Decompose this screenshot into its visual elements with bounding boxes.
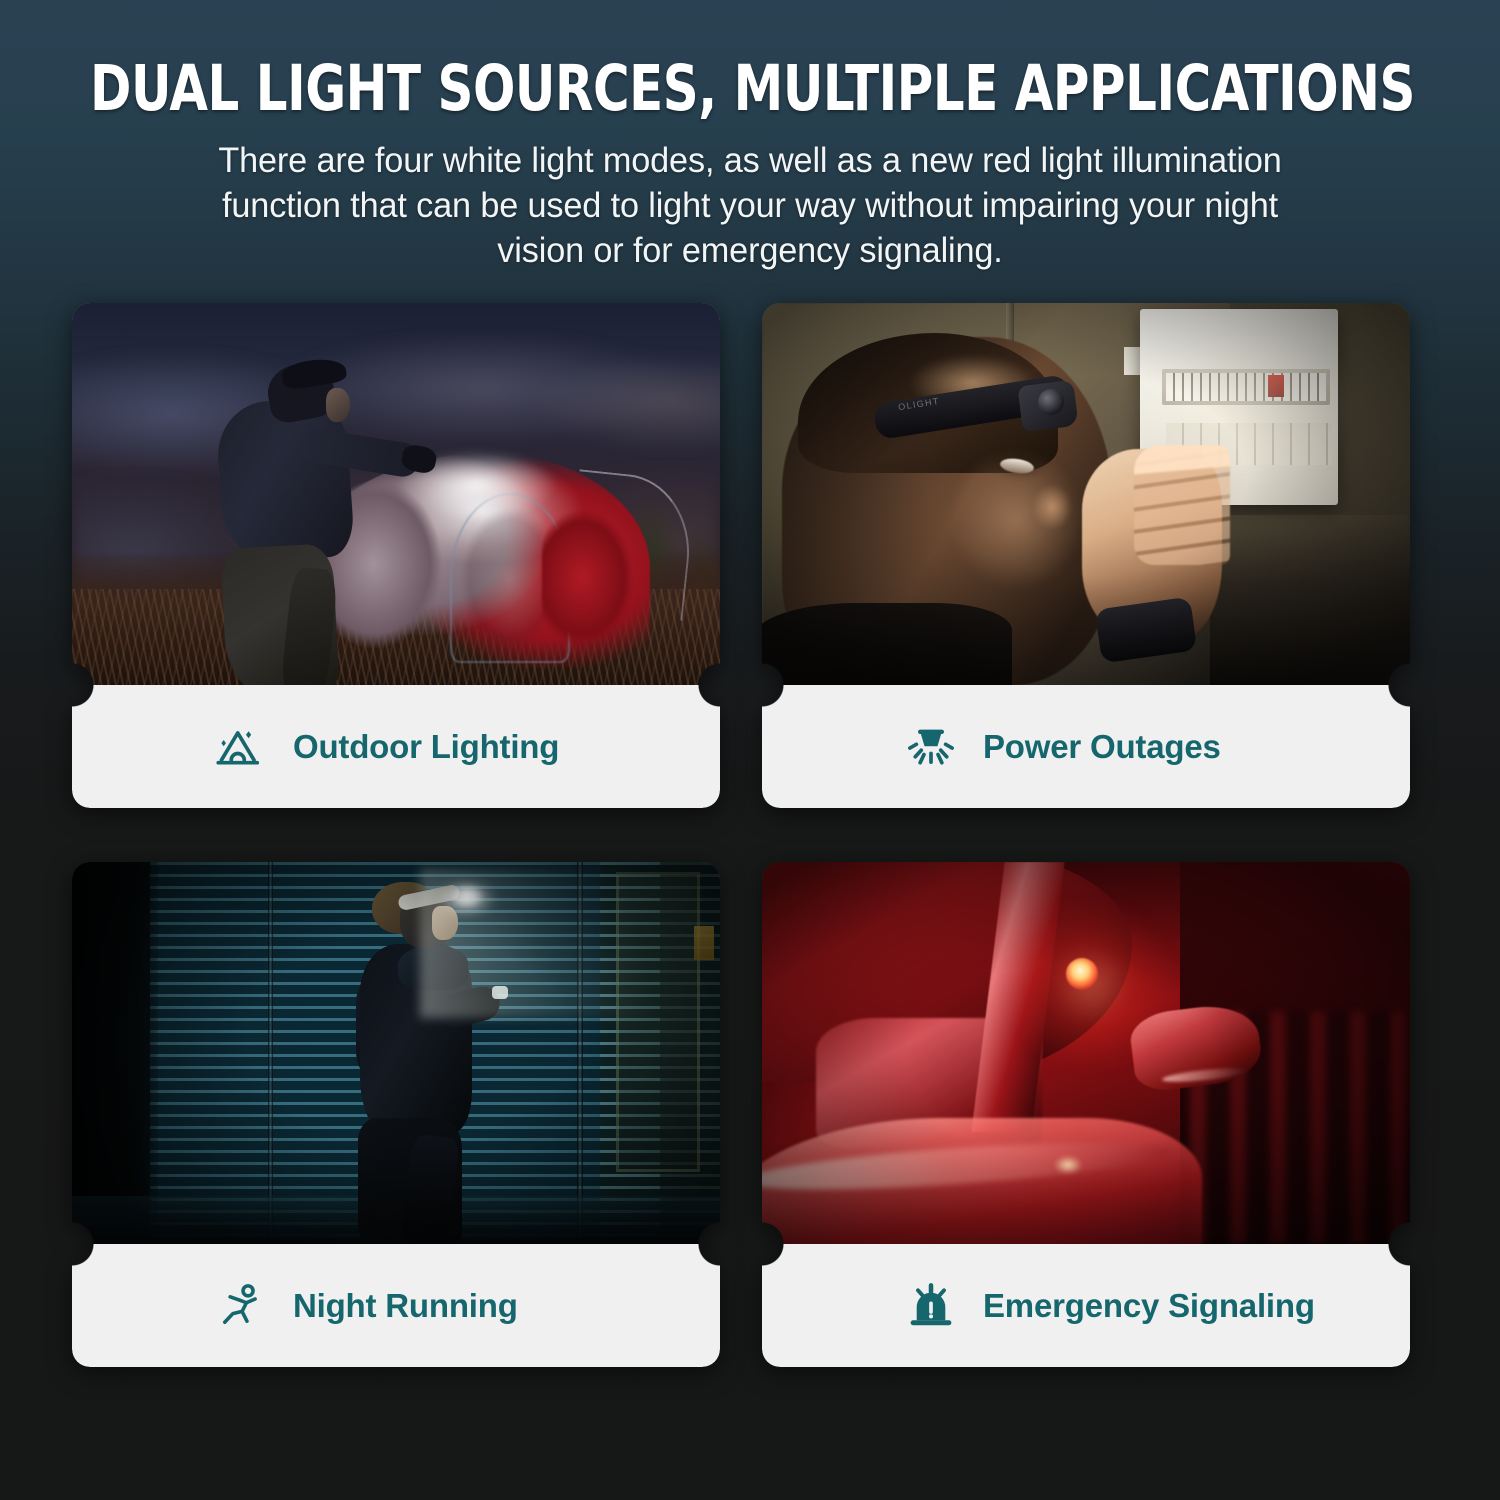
siren-icon <box>905 1280 957 1332</box>
card-photo-night-running <box>72 862 720 1244</box>
application-card-power-outages[interactable]: OLIGHT <box>762 303 1410 808</box>
card-label-text: Emergency Signaling <box>983 1287 1315 1325</box>
card-label-strip: Night Running <box>72 1244 720 1367</box>
breaker-panel-scene: OLIGHT <box>762 303 1410 685</box>
tent-icon <box>215 721 267 773</box>
ticket-surface: Outdoor Lighting <box>72 303 720 808</box>
card-label-text: Power Outages <box>983 728 1221 766</box>
page-subtitle: There are four white light modes, as wel… <box>190 138 1309 273</box>
application-card-outdoor-lighting[interactable]: Outdoor Lighting <box>72 303 720 808</box>
application-card-emergency-signaling[interactable]: Emergency Signaling <box>762 862 1410 1367</box>
camping-night-scene <box>72 303 720 685</box>
ticket-surface: Night Running <box>72 862 720 1367</box>
red-emergency-light-scene <box>762 862 1410 1244</box>
ticket-surface: OLIGHT <box>762 303 1410 808</box>
night-runner-scene <box>72 862 720 1244</box>
card-photo-emergency-signaling <box>762 862 1410 1244</box>
application-card-grid: Outdoor Lighting <box>72 303 1410 1365</box>
ceiling-lamp-icon <box>905 721 957 773</box>
running-person-icon <box>215 1280 267 1332</box>
application-card-night-running[interactable]: Night Running <box>72 862 720 1367</box>
product-feature-panel: DUAL LIGHT SOURCES, MULTIPLE APPLICATION… <box>0 0 1500 1500</box>
card-label-text: Outdoor Lighting <box>293 728 559 766</box>
card-label-strip: Emergency Signaling <box>762 1244 1410 1367</box>
card-label-strip: Power Outages <box>762 685 1410 808</box>
ticket-surface: Emergency Signaling <box>762 862 1410 1367</box>
card-label-text: Night Running <box>293 1287 518 1325</box>
card-photo-power-outages: OLIGHT <box>762 303 1410 685</box>
camper-figure <box>190 358 390 678</box>
card-label-strip: Outdoor Lighting <box>72 685 720 808</box>
card-photo-outdoor-lighting <box>72 303 720 685</box>
header: DUAL LIGHT SOURCES, MULTIPLE APPLICATION… <box>0 54 1500 273</box>
page-title: DUAL LIGHT SOURCES, MULTIPLE APPLICATION… <box>90 54 1410 124</box>
